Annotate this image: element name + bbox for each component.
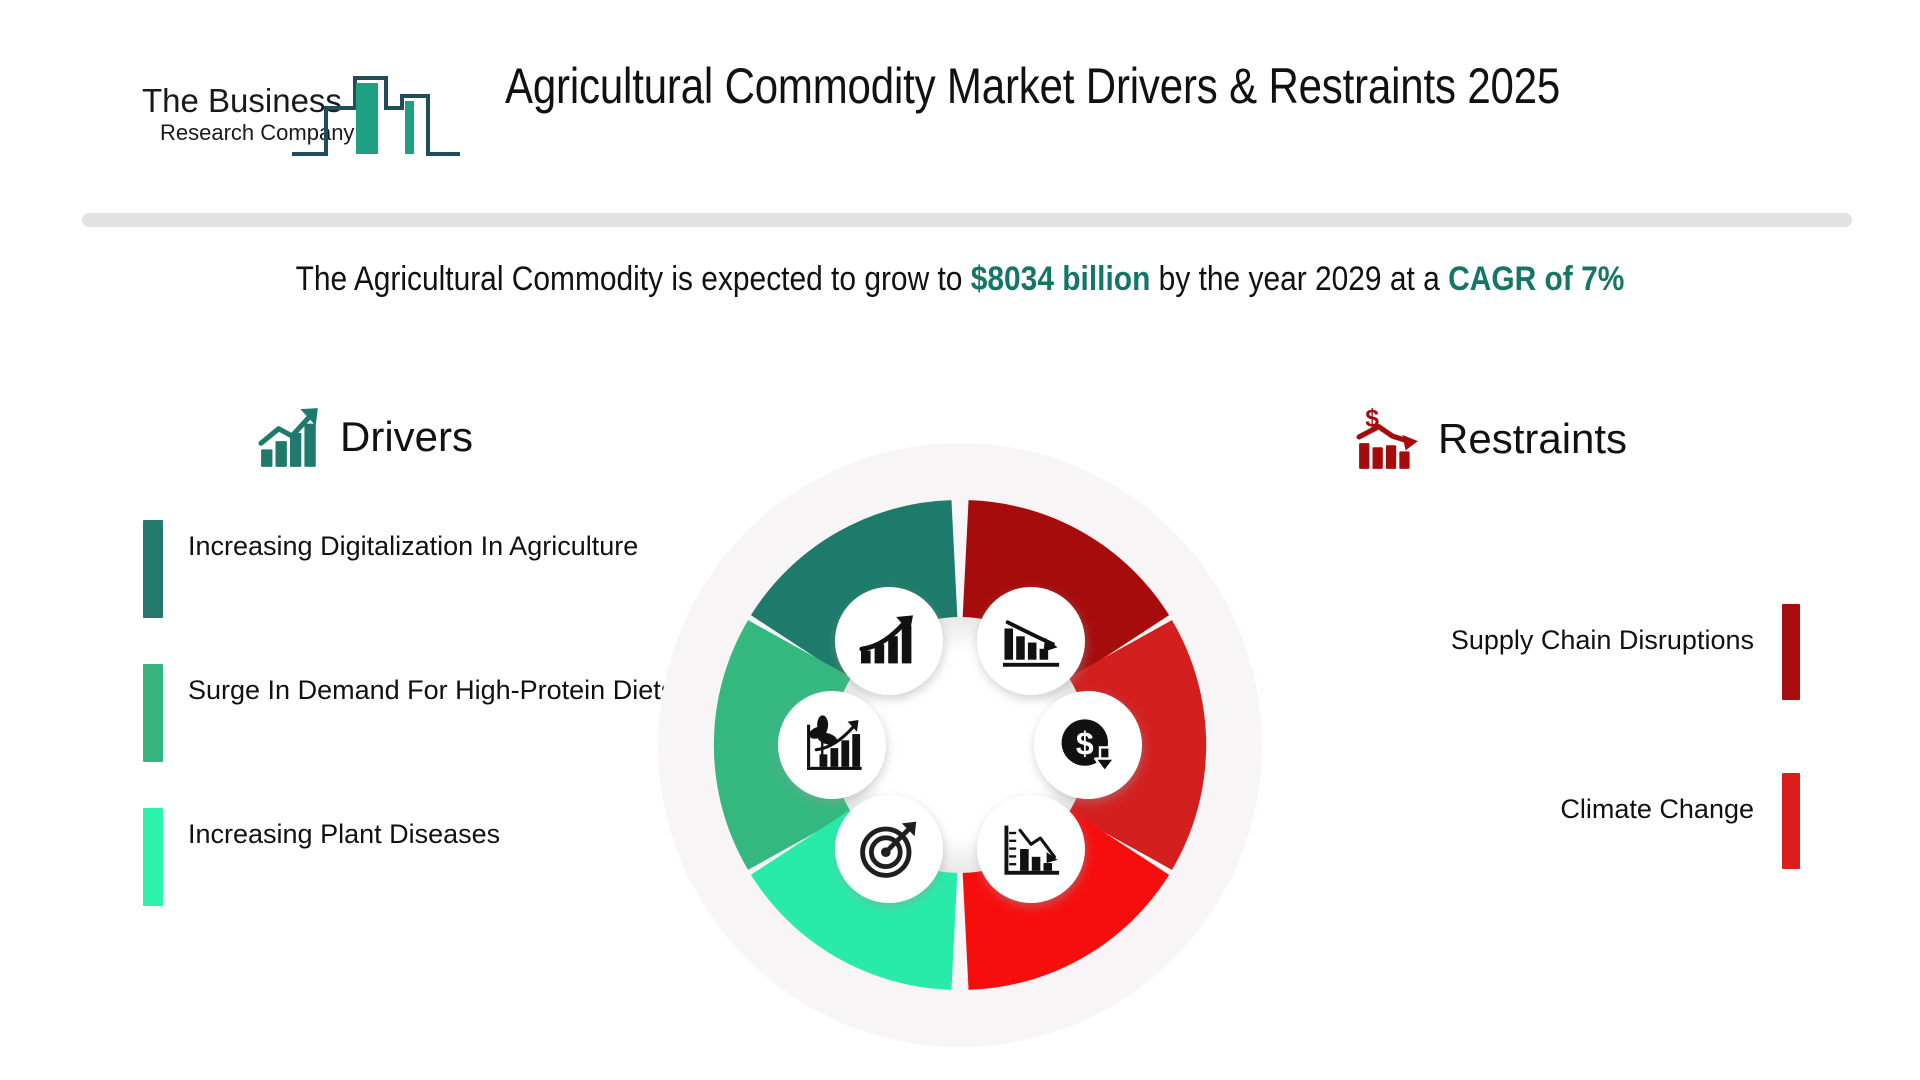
logo-text-line1: The Business [142,82,342,119]
wheel-badge-target[interactable] [835,795,943,903]
wheel-badge-dollar-down[interactable]: $ [1034,691,1142,799]
driver-color-bar [143,520,163,618]
list-item[interactable]: Surge In Demand For High-Protein Diets [143,664,703,762]
header-divider [82,213,1852,227]
header: The Business Research Company Agricultur… [0,0,1920,208]
list-item[interactable]: Increasing Plant Diseases [143,808,703,906]
list-item[interactable]: Supply Chain Disruptions [1300,604,1800,700]
restraint-label: Climate Change [1560,773,1754,828]
drivers-heading-label: Drivers [340,413,473,461]
driver-label: Surge In Demand For High-Protein Diets [188,664,674,709]
restraints-heading-label: Restraints [1438,415,1627,463]
drivers-list: Increasing Digitalization In Agriculture… [143,520,703,952]
restraints-heading: $ Restraints [1356,406,1627,472]
growth-bar-chart-up-icon [258,404,324,470]
logo-bar-short [405,101,414,154]
restraint-color-bar [1782,773,1800,869]
summary-text-mid: by the year 2029 at a [1150,260,1448,298]
page-title: Agricultural Commodity Market Drivers & … [505,55,1614,118]
restraints-list: Supply Chain Disruptions Climate Change [1300,604,1800,942]
driver-color-bar [143,808,163,906]
market-summary-line: The Agricultural Commodity is expected t… [0,257,1920,301]
wheel-badge-growth-chart[interactable] [835,587,943,695]
list-item[interactable]: Increasing Digitalization In Agriculture [143,520,703,618]
list-item[interactable]: Climate Change [1300,773,1800,869]
restraint-color-bar [1782,604,1800,700]
drivers-heading: Drivers [258,404,473,470]
wheel-badge-declining-bars[interactable] [977,587,1085,695]
cagr-label: CAGR of [1448,260,1581,298]
company-logo[interactable]: The Business Research Company [140,60,470,170]
cagr-value: 7% [1581,260,1624,298]
market-value: $8034 billion [971,260,1151,298]
summary-text-lead: The Agricultural Commodity is expected t… [296,260,971,298]
driver-label: Increasing Digitalization In Agriculture [188,520,638,565]
declining-bar-chart-dollar-icon: $ [1356,406,1422,472]
logo-bar-tall [356,83,378,154]
wheel-badge-plant-growth[interactable] [778,691,886,799]
svg-text:$: $ [1076,726,1094,762]
wheel-badge-falling-chart[interactable] [977,795,1085,903]
driver-label: Increasing Plant Diseases [188,808,500,853]
svg-text:$: $ [1365,406,1379,433]
drivers-restraints-wheel: $ [650,435,1270,1055]
restraint-label: Supply Chain Disruptions [1451,604,1754,659]
driver-color-bar [143,664,163,762]
